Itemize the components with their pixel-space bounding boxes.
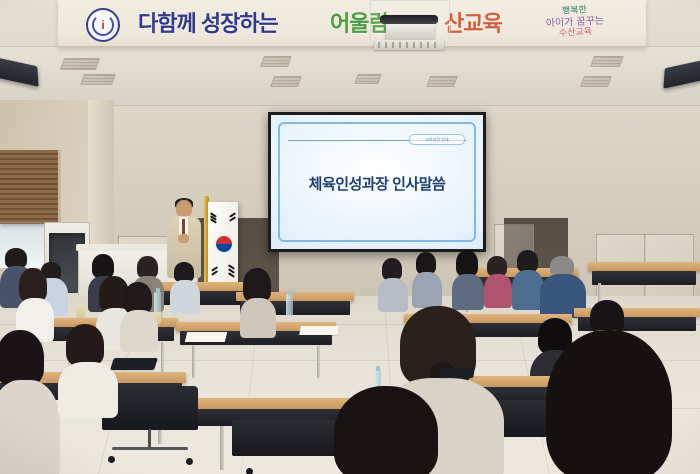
wall-banner: i 다함께 성장하는 어울림 산교육 행복한 아이가 꿈꾸는 수산교육 <box>58 0 646 48</box>
water-bottle <box>286 294 293 316</box>
ceiling-vent <box>426 76 458 87</box>
attendee <box>512 250 542 306</box>
smartphone[interactable] <box>110 358 158 370</box>
school-emblem-icon: i <box>86 8 120 42</box>
chair-caster <box>108 456 115 463</box>
banner-text-blue: 다함께 성장하는 <box>138 6 278 38</box>
ceiling-vent <box>60 58 100 70</box>
ceiling-vent <box>270 76 302 87</box>
presentation-slide: 교육과정 안내 체육인성과장 인사말씀 <box>271 115 483 249</box>
attendee <box>120 282 156 344</box>
attendee <box>16 268 50 330</box>
slide-badge: 교육과정 안내 <box>409 134 465 145</box>
slide-title: 체육인성과장 인사말씀 <box>271 173 483 194</box>
taeguk-symbol <box>216 236 232 252</box>
chair-caster <box>186 458 193 465</box>
window-blinds[interactable] <box>0 150 58 224</box>
attendee <box>170 262 198 310</box>
ceiling-vent <box>354 74 382 84</box>
presenter-tie <box>182 219 185 234</box>
attendee <box>484 256 510 304</box>
attendee-foreground-right <box>536 330 686 474</box>
ceiling-projector <box>370 0 448 52</box>
flag-cloth <box>208 202 238 294</box>
banner-text-orange: 산교육 <box>444 6 502 38</box>
attendee <box>378 258 406 308</box>
banner-handwriting: 행복한 아이가 꿈꾸는 수산교육 <box>519 3 631 43</box>
ceiling-vent <box>590 56 624 67</box>
emblem-letter: i <box>101 19 104 31</box>
handout <box>185 332 227 342</box>
attendee <box>240 268 274 326</box>
chair[interactable] <box>232 420 336 474</box>
smartphone[interactable] <box>439 368 474 378</box>
ceiling-vent <box>580 76 612 87</box>
desk <box>588 262 700 286</box>
attendee <box>452 250 482 306</box>
coffee-cup <box>76 306 85 318</box>
attendee <box>58 324 114 410</box>
ceiling-vent <box>260 56 292 67</box>
projection-screen: 교육과정 안내 체육인성과장 인사말씀 <box>268 112 486 252</box>
ceiling-vent <box>80 74 116 85</box>
presenter-hands <box>178 234 189 243</box>
handout <box>299 326 339 335</box>
attendee-foreground-left <box>0 330 54 474</box>
attendee <box>412 252 440 304</box>
photo-scene: i 다함께 성장하는 어울림 산교육 행복한 아이가 꿈꾸는 수산교육 <box>0 0 700 474</box>
attendee-foreground <box>326 386 448 474</box>
chair-caster <box>246 468 253 474</box>
